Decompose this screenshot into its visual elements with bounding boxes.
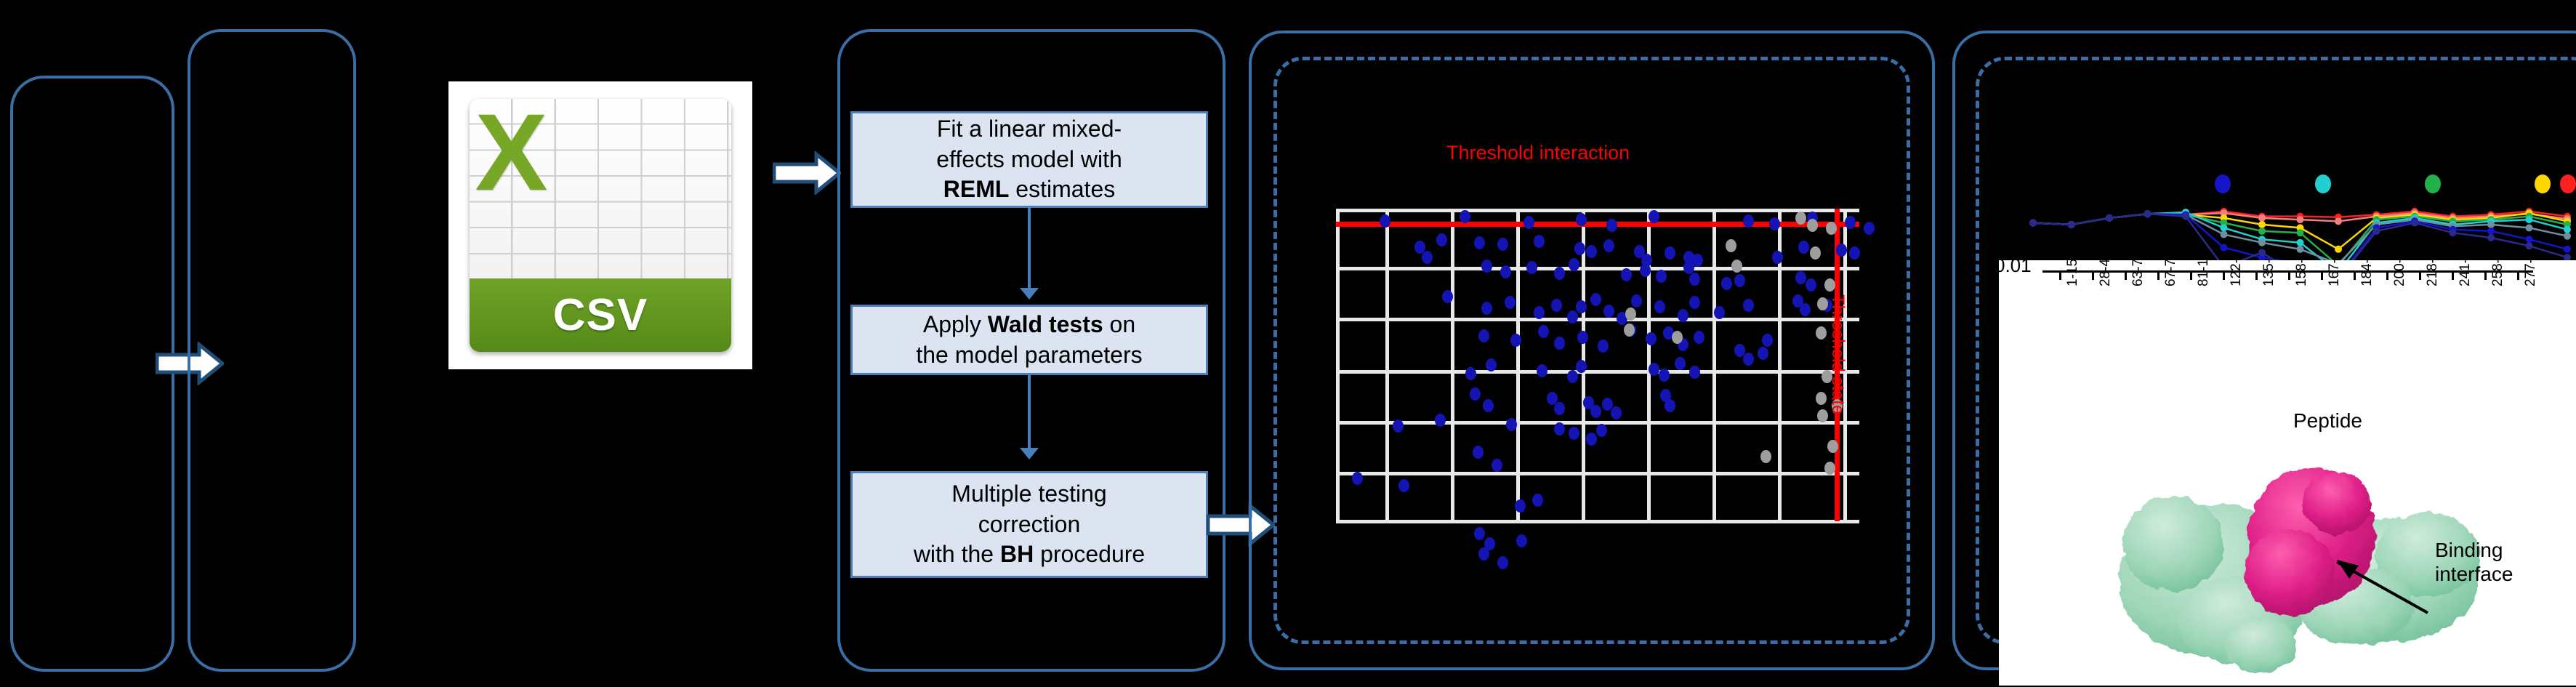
figure-canvas: X CSV Fit a linear mixed-effects model w… — [0, 0, 2576, 687]
peptide-tick-label: 218-237 — [2425, 260, 2441, 286]
peptide-tick — [2354, 270, 2356, 280]
csv-band: CSV — [470, 278, 730, 352]
peptide-tick — [2125, 270, 2127, 280]
peptide-tick — [2223, 270, 2225, 280]
step-reml-text: Fit a linear mixed-effects model withREM… — [936, 114, 1122, 205]
gridline-h — [1336, 520, 1859, 523]
peptide-tick-label: 28-44 — [2098, 260, 2114, 286]
point-series-blue — [2526, 236, 2533, 243]
structure-result-card: 0.01 1-1528-4463-7367-7581-101122-129135… — [1999, 260, 2576, 686]
peptide-tick-label: 277-284 — [2523, 260, 2539, 286]
peptide-tick — [2321, 270, 2323, 280]
gridline-h — [1336, 472, 1859, 475]
gridline-h — [1336, 209, 1859, 212]
arrow-csv-to-model — [773, 151, 841, 195]
peptide-tick-label: 1-15 — [2065, 260, 2081, 286]
point-series-navy — [2144, 210, 2152, 217]
legend-dot-4 — [2535, 174, 2551, 193]
peptide-tick — [2190, 270, 2192, 280]
point-series-navy — [2106, 214, 2113, 222]
point-series-steelblue — [2297, 246, 2304, 253]
peptide-tick — [2517, 270, 2519, 280]
point-series-green — [2297, 229, 2304, 236]
point-series-yellow — [2335, 246, 2342, 253]
gridline-h — [1336, 318, 1859, 321]
threshold-scatter-chart: Threshold interaction — [1301, 156, 1883, 563]
peptide-tick-label: 63-73 — [2130, 260, 2146, 286]
peptide-tick — [2255, 270, 2258, 280]
point-series-cyan — [2564, 226, 2571, 233]
point-series-navy — [2487, 234, 2495, 241]
peptide-y-axis-label: 0.01 — [1999, 260, 2032, 277]
step-wald-box[interactable]: Apply Wald tests onthe model parameters — [850, 305, 1208, 375]
step-bh-box[interactable]: Multiple testingcorrectionwith the BH pr… — [850, 471, 1208, 578]
gridline-h — [1336, 421, 1859, 425]
csv-panel — [188, 29, 356, 672]
peptide-tick-label: 81-101 — [2196, 260, 2212, 286]
threshold-state-label: Threshold state — [1827, 294, 1848, 414]
csv-sheet: X CSV — [470, 99, 730, 352]
protein-structure-image — [2086, 435, 2493, 675]
point-series-navy — [2373, 228, 2380, 235]
peptide-tick — [2386, 270, 2388, 280]
point-series-steelblue — [2487, 221, 2495, 228]
peptide-tick — [2157, 270, 2160, 280]
binding-interface-annotation: Binding interface — [2435, 538, 2513, 586]
peptide-tick-label: 67-75 — [2163, 260, 2179, 286]
point-series-steelblue — [2564, 233, 2571, 240]
point-series-navy — [2258, 249, 2266, 256]
peptide-tick-label: 167-180 — [2327, 260, 2343, 286]
peptide-tick-label: 241-257 — [2458, 260, 2474, 286]
peptide-tick-label: 122-129 — [2229, 260, 2245, 286]
step-bh-text: Multiple testingcorrectionwith the BH pr… — [914, 479, 1145, 570]
point-series-navy — [2411, 220, 2418, 227]
gridline-h — [1336, 370, 1859, 374]
point-series-salmon — [2297, 216, 2304, 223]
point-series-salmon — [2258, 214, 2266, 222]
point-series-cyan — [2526, 216, 2533, 223]
connector-arrowhead-bh — [1020, 448, 1039, 459]
peptide-tick-label: 258-266 — [2490, 260, 2506, 286]
peptide-tick — [2484, 270, 2487, 280]
csv-card: X CSV — [470, 99, 730, 352]
peptide-tick — [2419, 270, 2421, 280]
point-series-navy — [2526, 242, 2533, 249]
input-panel — [10, 76, 174, 672]
connector-arrowhead-wald — [1020, 288, 1039, 300]
gridline-h — [1336, 267, 1859, 270]
point-series-navy — [2450, 229, 2457, 236]
point-series-steelblue — [2258, 239, 2266, 246]
excel-x-glyph: X — [475, 104, 547, 200]
peptide-tick — [2288, 270, 2290, 280]
point-series-blue — [2487, 228, 2495, 235]
connector-wald-to-bh — [1028, 375, 1031, 455]
legend-dot-1 — [2215, 174, 2231, 193]
peptide-tick — [2059, 270, 2061, 280]
peptide-tick — [2452, 270, 2454, 280]
point-series-yellow — [2258, 221, 2266, 228]
legend-dot-5 — [2560, 174, 2576, 193]
point-series-cyan — [2221, 224, 2228, 231]
peptide-tick-label: 200-214 — [2392, 260, 2408, 286]
scatter-title: Threshold interaction — [1446, 142, 1630, 164]
point-series-steelblue — [2221, 230, 2228, 238]
peptide-tick-label: 158-166 — [2294, 260, 2310, 286]
threshold-interaction-line — [1336, 222, 1859, 227]
point-series-green — [2258, 228, 2266, 235]
point-series-blue — [2221, 244, 2228, 252]
connector-reml-to-wald — [1028, 208, 1031, 295]
legend-dot-2 — [2315, 174, 2331, 193]
point-series-steelblue — [2526, 224, 2533, 231]
point-series-navy — [2029, 220, 2037, 227]
point-series-cyan — [2297, 239, 2304, 246]
point-series-navy — [2182, 213, 2189, 220]
step-reml-box[interactable]: Fit a linear mixed-effects model withREM… — [850, 111, 1208, 208]
point-series-navy — [2068, 221, 2075, 228]
peptide-tick-label: 184-199 — [2359, 260, 2375, 286]
step-wald-text: Apply Wald tests onthe model parameters — [916, 310, 1142, 370]
point-series-salmon — [2335, 217, 2342, 225]
peptide-axis-title: Peptide — [2293, 409, 2362, 433]
csv-file-icon-visual[interactable]: X CSV — [448, 81, 752, 369]
csv-label: CSV — [553, 289, 648, 341]
scatter-plot-area — [1336, 209, 1859, 521]
legend-dot-3 — [2425, 174, 2441, 193]
peptide-tick — [2092, 270, 2094, 280]
point-series-blue — [2564, 246, 2571, 253]
peptide-tick-label: 135-144 — [2261, 260, 2277, 286]
